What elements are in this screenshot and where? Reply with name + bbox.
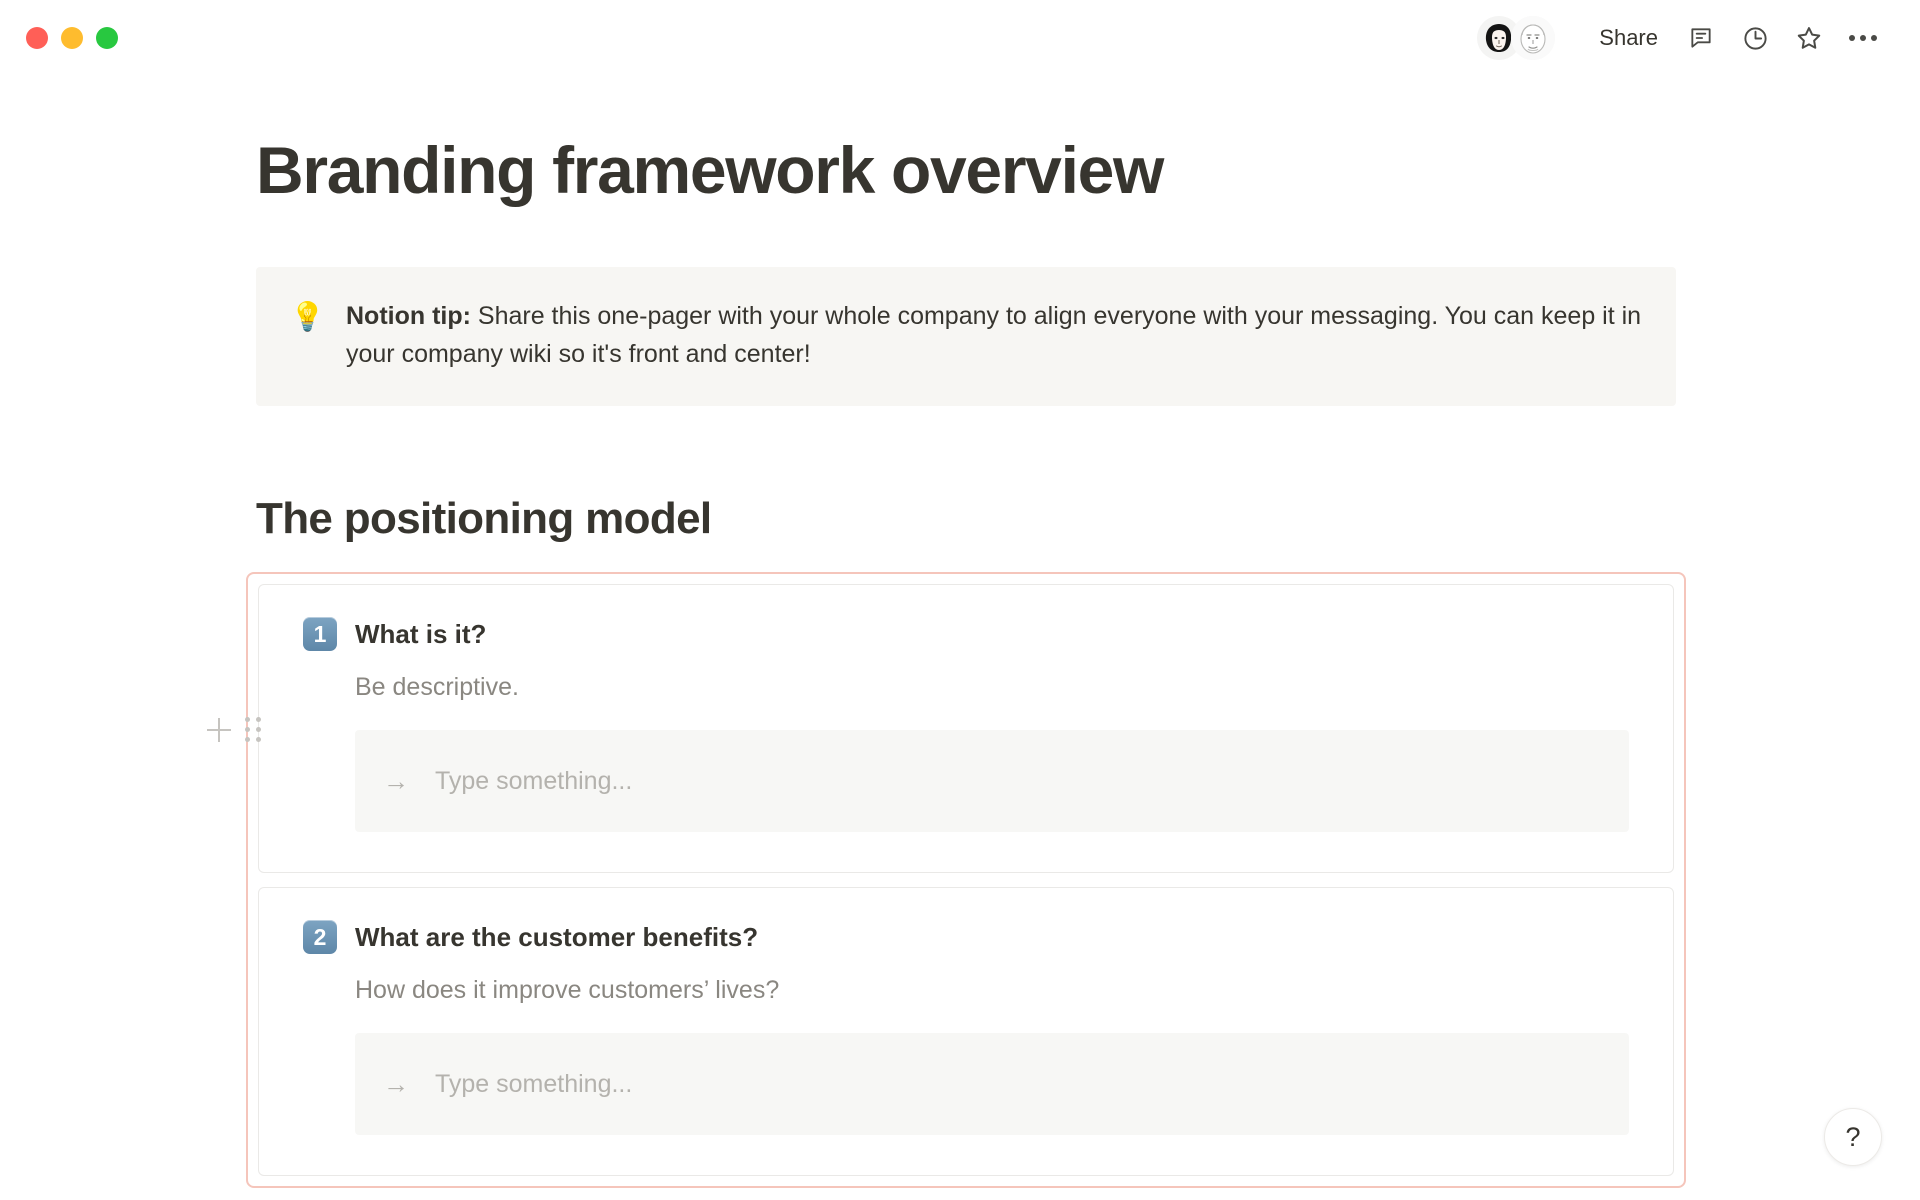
minimize-window-button[interactable] — [61, 27, 83, 49]
arrow-right-icon: → — [383, 1071, 409, 1097]
question-1-placeholder: Type something... — [435, 767, 632, 796]
question-card-1[interactable]: 1 What is it? Be descriptive. → Type som… — [258, 584, 1674, 873]
question-2-header: 2 What are the customer benefits? — [303, 920, 1629, 954]
question-2-subtitle: How does it improve customers’ lives? — [355, 976, 1629, 1005]
star-icon[interactable] — [1786, 15, 1832, 61]
more-options-icon[interactable] — [1840, 15, 1886, 61]
question-1-subtitle: Be descriptive. — [355, 673, 1629, 702]
lightbulb-icon: 💡 — [290, 297, 322, 338]
callout-text: Notion tip: Share this one-pager with yo… — [346, 297, 1642, 375]
question-1-title[interactable]: What is it? — [355, 619, 486, 650]
question-1-input[interactable]: → Type something... — [355, 730, 1629, 832]
avatar-light[interactable] — [1511, 16, 1555, 60]
drag-handle-icon[interactable] — [245, 717, 261, 742]
section-heading[interactable]: The positioning model — [256, 494, 1880, 544]
callout-block[interactable]: 💡 Notion tip: Share this one-pager with … — [256, 267, 1676, 407]
question-1-header: 1 What is it? — [303, 617, 1629, 651]
share-button[interactable]: Share — [1587, 21, 1670, 55]
question-2-title[interactable]: What are the customer benefits? — [355, 922, 758, 953]
traffic-lights — [0, 27, 118, 49]
question-card-2[interactable]: 2 What are the customer benefits? How do… — [258, 887, 1674, 1176]
more-options-dots — [1849, 35, 1877, 41]
arrow-right-icon: → — [383, 768, 409, 794]
help-button[interactable]: ? — [1824, 1108, 1882, 1166]
comment-icon[interactable] — [1678, 15, 1724, 61]
keycap-number-icon: 2 — [303, 920, 337, 954]
question-2-input[interactable]: → Type something... — [355, 1033, 1629, 1135]
page-content: Branding framework overview 💡 Notion tip… — [0, 134, 1920, 1188]
question-2-placeholder: Type something... — [435, 1070, 632, 1099]
callout-body: Share this one-pager with your whole com… — [346, 302, 1641, 369]
topbar-actions: Share — [1471, 0, 1886, 76]
selected-block-group[interactable]: 1 What is it? Be descriptive. → Type som… — [246, 572, 1686, 1188]
window-titlebar: Share — [0, 0, 1920, 76]
collaborator-avatars[interactable] — [1471, 11, 1561, 65]
add-block-icon[interactable] — [207, 718, 231, 742]
clock-history-icon[interactable] — [1732, 15, 1778, 61]
block-handles — [207, 717, 261, 742]
keycap-number-icon: 1 — [303, 617, 337, 651]
close-window-button[interactable] — [26, 27, 48, 49]
maximize-window-button[interactable] — [96, 27, 118, 49]
callout-bold-lead: Notion tip: — [346, 302, 471, 330]
page-title[interactable]: Branding framework overview — [256, 134, 1880, 207]
